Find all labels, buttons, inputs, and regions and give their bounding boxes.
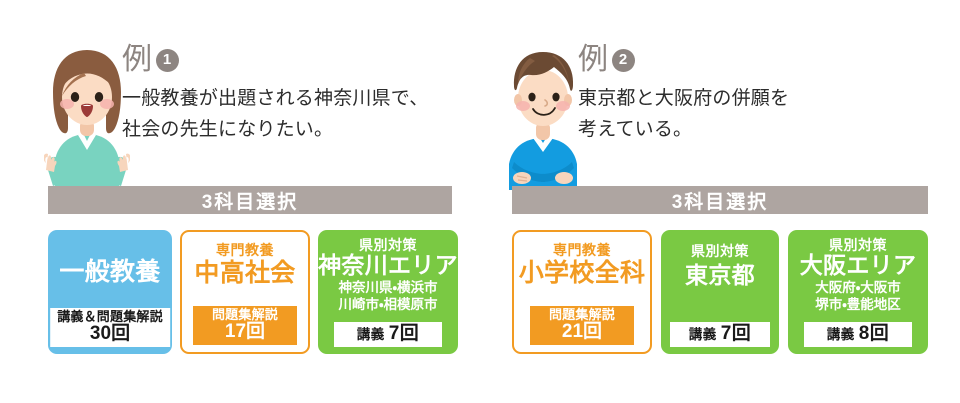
badge-inline: 講義8回 [811, 324, 905, 344]
course-card-general-education[interactable]: 一般教養 講義＆問題集解説 30回 [48, 230, 172, 354]
card-badge: 講義8回 [804, 322, 912, 347]
select-bar-example-2: 3科目選択 [512, 186, 928, 214]
example-1-speech: 例 1 一般教養が出題される神奈川県で、 社会の先生になりたい。 [122, 38, 466, 146]
example-1-label: 例 1 [122, 38, 466, 82]
card-title: 神奈川エリア [318, 253, 458, 278]
badge-label: 問題集解説 [200, 308, 290, 322]
card-subregions: 大阪府・大阪市 堺市・豊能地区 [815, 280, 901, 313]
speech-line: 東京都と大阪府の併願を [578, 84, 922, 115]
badge-count: 17回 [200, 322, 290, 342]
example-2-speech: 例 2 東京都と大阪府の併願を 考えている。 [578, 38, 922, 146]
course-card-tokyo[interactable]: 県別対策 東京都 講義7回 [661, 230, 779, 354]
subregion-line: 川崎市・相模原市 [338, 297, 437, 313]
badge-count: 7回 [389, 323, 420, 344]
card-badge: 問題集解説 17回 [193, 306, 297, 345]
badge-label: 講義 [827, 327, 855, 342]
course-card-specialized-junior-high-social[interactable]: 専門教養 中高社会 問題集解説 17回 [180, 230, 310, 354]
female-teacher-avatar [44, 42, 130, 190]
card-supertitle: 専門教養 [553, 242, 611, 258]
course-card-osaka-area[interactable]: 県別対策 大阪エリア 大阪府・大阪市 堺市・豊能地区 講義8回 [788, 230, 928, 354]
card-supertitle: 県別対策 [691, 243, 749, 259]
badge-count: 21回 [537, 322, 627, 342]
subregion-line: 神奈川県・横浜市 [338, 280, 437, 296]
card-title: 東京都 [685, 263, 755, 288]
speech-line: 一般教養が出題される神奈川県で、 [122, 84, 466, 115]
select-bar-example-1: 3科目選択 [48, 186, 452, 214]
card-badge: 講義7回 [670, 322, 770, 347]
example-block-2: 例 2 東京都と大阪府の併願を 考えている。 [500, 38, 920, 188]
card-supertitle: 県別対策 [829, 237, 887, 253]
cards-example-2: 専門教養 小学校全科 問題集解説 21回 県別対策 東京都 講義7回 県別対策 … [512, 230, 928, 354]
card-supertitle: 県別対策 [359, 237, 417, 253]
course-card-kanagawa-area[interactable]: 県別対策 神奈川エリア 神奈川県・横浜市 川崎市・相模原市 講義7回 [318, 230, 458, 354]
card-subregions: 神奈川県・横浜市 川崎市・相模原市 [338, 280, 437, 313]
speech-line: 考えている。 [578, 115, 922, 146]
example-2-text: 東京都と大阪府の併願を 考えている。 [578, 84, 922, 146]
card-title: 小学校全科 [519, 260, 646, 288]
card-supertitle: 専門教養 [216, 242, 274, 258]
course-card-specialized-elementary-all-subjects[interactable]: 専門教養 小学校全科 問題集解説 21回 [512, 230, 652, 354]
card-title: 大阪エリア [800, 253, 917, 278]
subregion-line: 堺市・豊能地区 [815, 297, 901, 313]
example-number-badge: 2 [612, 49, 635, 72]
examples-stage: 例 1 一般教養が出題される神奈川県で、 社会の先生になりたい。 3科目選択 一… [0, 0, 960, 403]
badge-inline: 講義7回 [341, 324, 435, 344]
example-1-text: 一般教養が出題される神奈川県で、 社会の先生になりたい。 [122, 84, 466, 146]
example-block-1: 例 1 一般教養が出題される神奈川県で、 社会の先生になりたい。 [44, 38, 464, 188]
example-2-label: 例 2 [578, 38, 922, 82]
card-title: 中高社会 [194, 260, 295, 288]
subregion-line: 大阪府・大阪市 [815, 280, 901, 296]
badge-inline: 講義7回 [677, 324, 763, 344]
card-badge: 講義7回 [334, 322, 442, 347]
badge-count: 8回 [859, 323, 890, 344]
example-label-kanji: 例 [578, 45, 609, 75]
example-number-badge: 1 [156, 49, 179, 72]
badge-label: 講義 [689, 327, 717, 342]
badge-count: 7回 [721, 323, 752, 344]
card-title: 一般教養 [59, 259, 160, 287]
cards-example-1: 一般教養 講義＆問題集解説 30回 専門教養 中高社会 問題集解説 17回 県別… [48, 230, 458, 354]
badge-label: 講義＆問題集解説 [57, 310, 163, 324]
card-badge: 問題集解説 21回 [530, 306, 634, 345]
example-1-header: 例 1 一般教養が出題される神奈川県で、 社会の先生になりたい。 [44, 38, 464, 188]
card-badge: 講義＆問題集解説 30回 [50, 308, 170, 347]
example-label-kanji: 例 [122, 45, 153, 75]
badge-label: 講義 [357, 327, 385, 342]
example-2-header: 例 2 東京都と大阪府の併願を 考えている。 [500, 38, 920, 188]
badge-count: 30回 [57, 324, 163, 344]
male-student-avatar [500, 42, 586, 190]
speech-line: 社会の先生になりたい。 [122, 115, 466, 146]
badge-label: 問題集解説 [537, 308, 627, 322]
